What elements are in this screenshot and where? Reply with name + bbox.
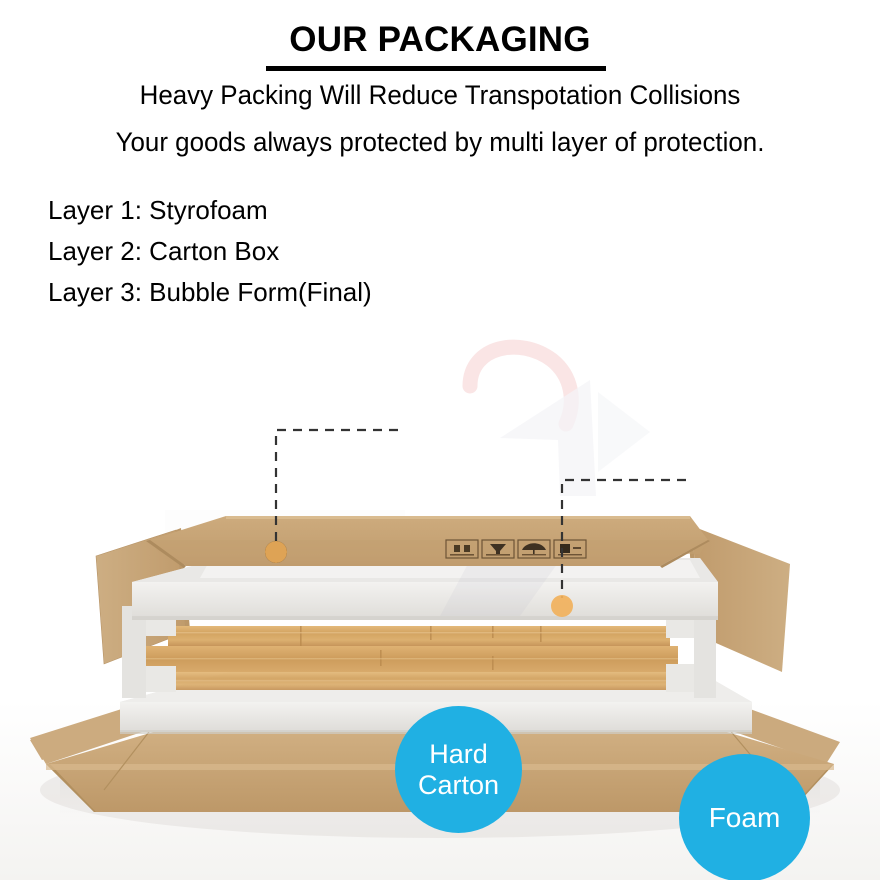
leader-dot-hard-carton [265, 541, 287, 563]
layer-item-2: Layer 2: Carton Box [48, 231, 548, 272]
callout-hard-carton-line-2: Carton [418, 770, 499, 801]
subtitle-line-2: Your goods always protected by multi lay… [18, 127, 863, 158]
callout-foam-line-1: Foam [709, 802, 781, 834]
page-title: OUR PACKAGING [0, 22, 880, 57]
subtitle-line-1: Heavy Packing Will Reduce Transpotation … [18, 80, 863, 111]
layer-item-3: Layer 3: Bubble Form(Final) [48, 272, 548, 313]
callout-bubble-hard-carton: Hard Carton [395, 706, 522, 833]
header-text-block: OUR PACKAGING Heavy Packing Will Reduce … [0, 0, 880, 320]
layer-item-1: Layer 1: Styrofoam [48, 190, 548, 231]
packaging-illustration: MyShop Vit [0, 320, 880, 880]
layer-list: Layer 1: Styrofoam Layer 2: Carton Box L… [48, 190, 548, 313]
product-wood-slats [138, 626, 678, 690]
callout-hard-carton-line-1: Hard [418, 739, 499, 770]
callout-bubble-foam: Foam [679, 754, 810, 880]
packaging-infographic: OUR PACKAGING Heavy Packing Will Reduce … [0, 0, 880, 880]
leader-dot-foam [551, 595, 573, 617]
title-underline [266, 66, 606, 71]
